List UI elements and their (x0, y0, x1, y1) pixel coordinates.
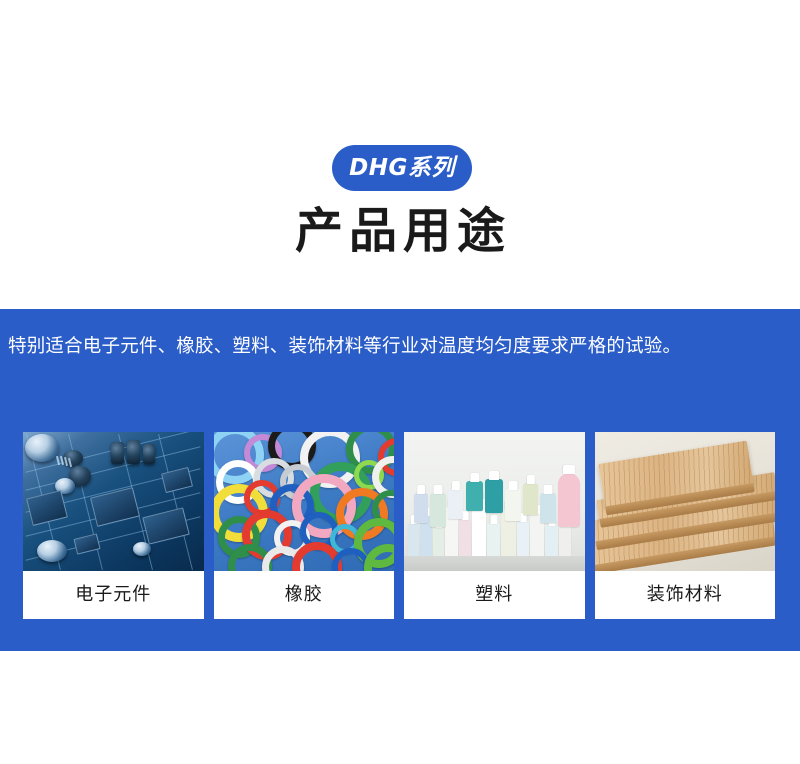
card-caption-label: 塑料 (475, 586, 513, 604)
plastic-bottles-photo (404, 432, 585, 571)
application-card-plastic[interactable]: 塑料 (404, 432, 585, 619)
application-card-decorative-material[interactable]: 装饰材料 (595, 432, 776, 619)
series-badge: DHG系列 (332, 145, 472, 191)
product-usage-page: DHG系列 产品用途 特别适合电子元件、橡胶、塑料、装饰材料等行业对温度均匀度要… (0, 0, 800, 764)
wood-boards-illustration (595, 432, 776, 571)
card-caption-label: 装饰材料 (647, 586, 723, 604)
o-rings-illustration (214, 432, 395, 571)
page-title: 产品用途 (0, 203, 800, 261)
application-card-rubber[interactable]: 橡胶 (214, 432, 395, 619)
application-card-electronic-components[interactable]: 电子元件 (23, 432, 204, 619)
card-caption: 电子元件 (23, 571, 204, 619)
usage-panel: 特别适合电子元件、橡胶、塑料、装饰材料等行业对温度均匀度要求严格的试验。 (0, 309, 800, 651)
usage-description: 特别适合电子元件、橡胶、塑料、装饰材料等行业对温度均匀度要求严格的试验。 (8, 330, 794, 363)
card-caption-label: 电子元件 (75, 586, 151, 604)
page-header: DHG系列 产品用途 (0, 0, 800, 309)
plastic-bottles-illustration (404, 432, 585, 571)
application-card-row: 电子元件 (23, 432, 775, 619)
card-caption-label: 橡胶 (285, 586, 323, 604)
card-caption: 装饰材料 (595, 571, 776, 619)
pcb-illustration (23, 432, 204, 571)
series-badge-label: DHG系列 (349, 157, 455, 180)
wood-boards-photo (595, 432, 776, 571)
rubber-o-rings-photo (214, 432, 395, 571)
circuit-board-photo (23, 432, 204, 571)
card-caption: 塑料 (404, 571, 585, 619)
card-caption: 橡胶 (214, 571, 395, 619)
